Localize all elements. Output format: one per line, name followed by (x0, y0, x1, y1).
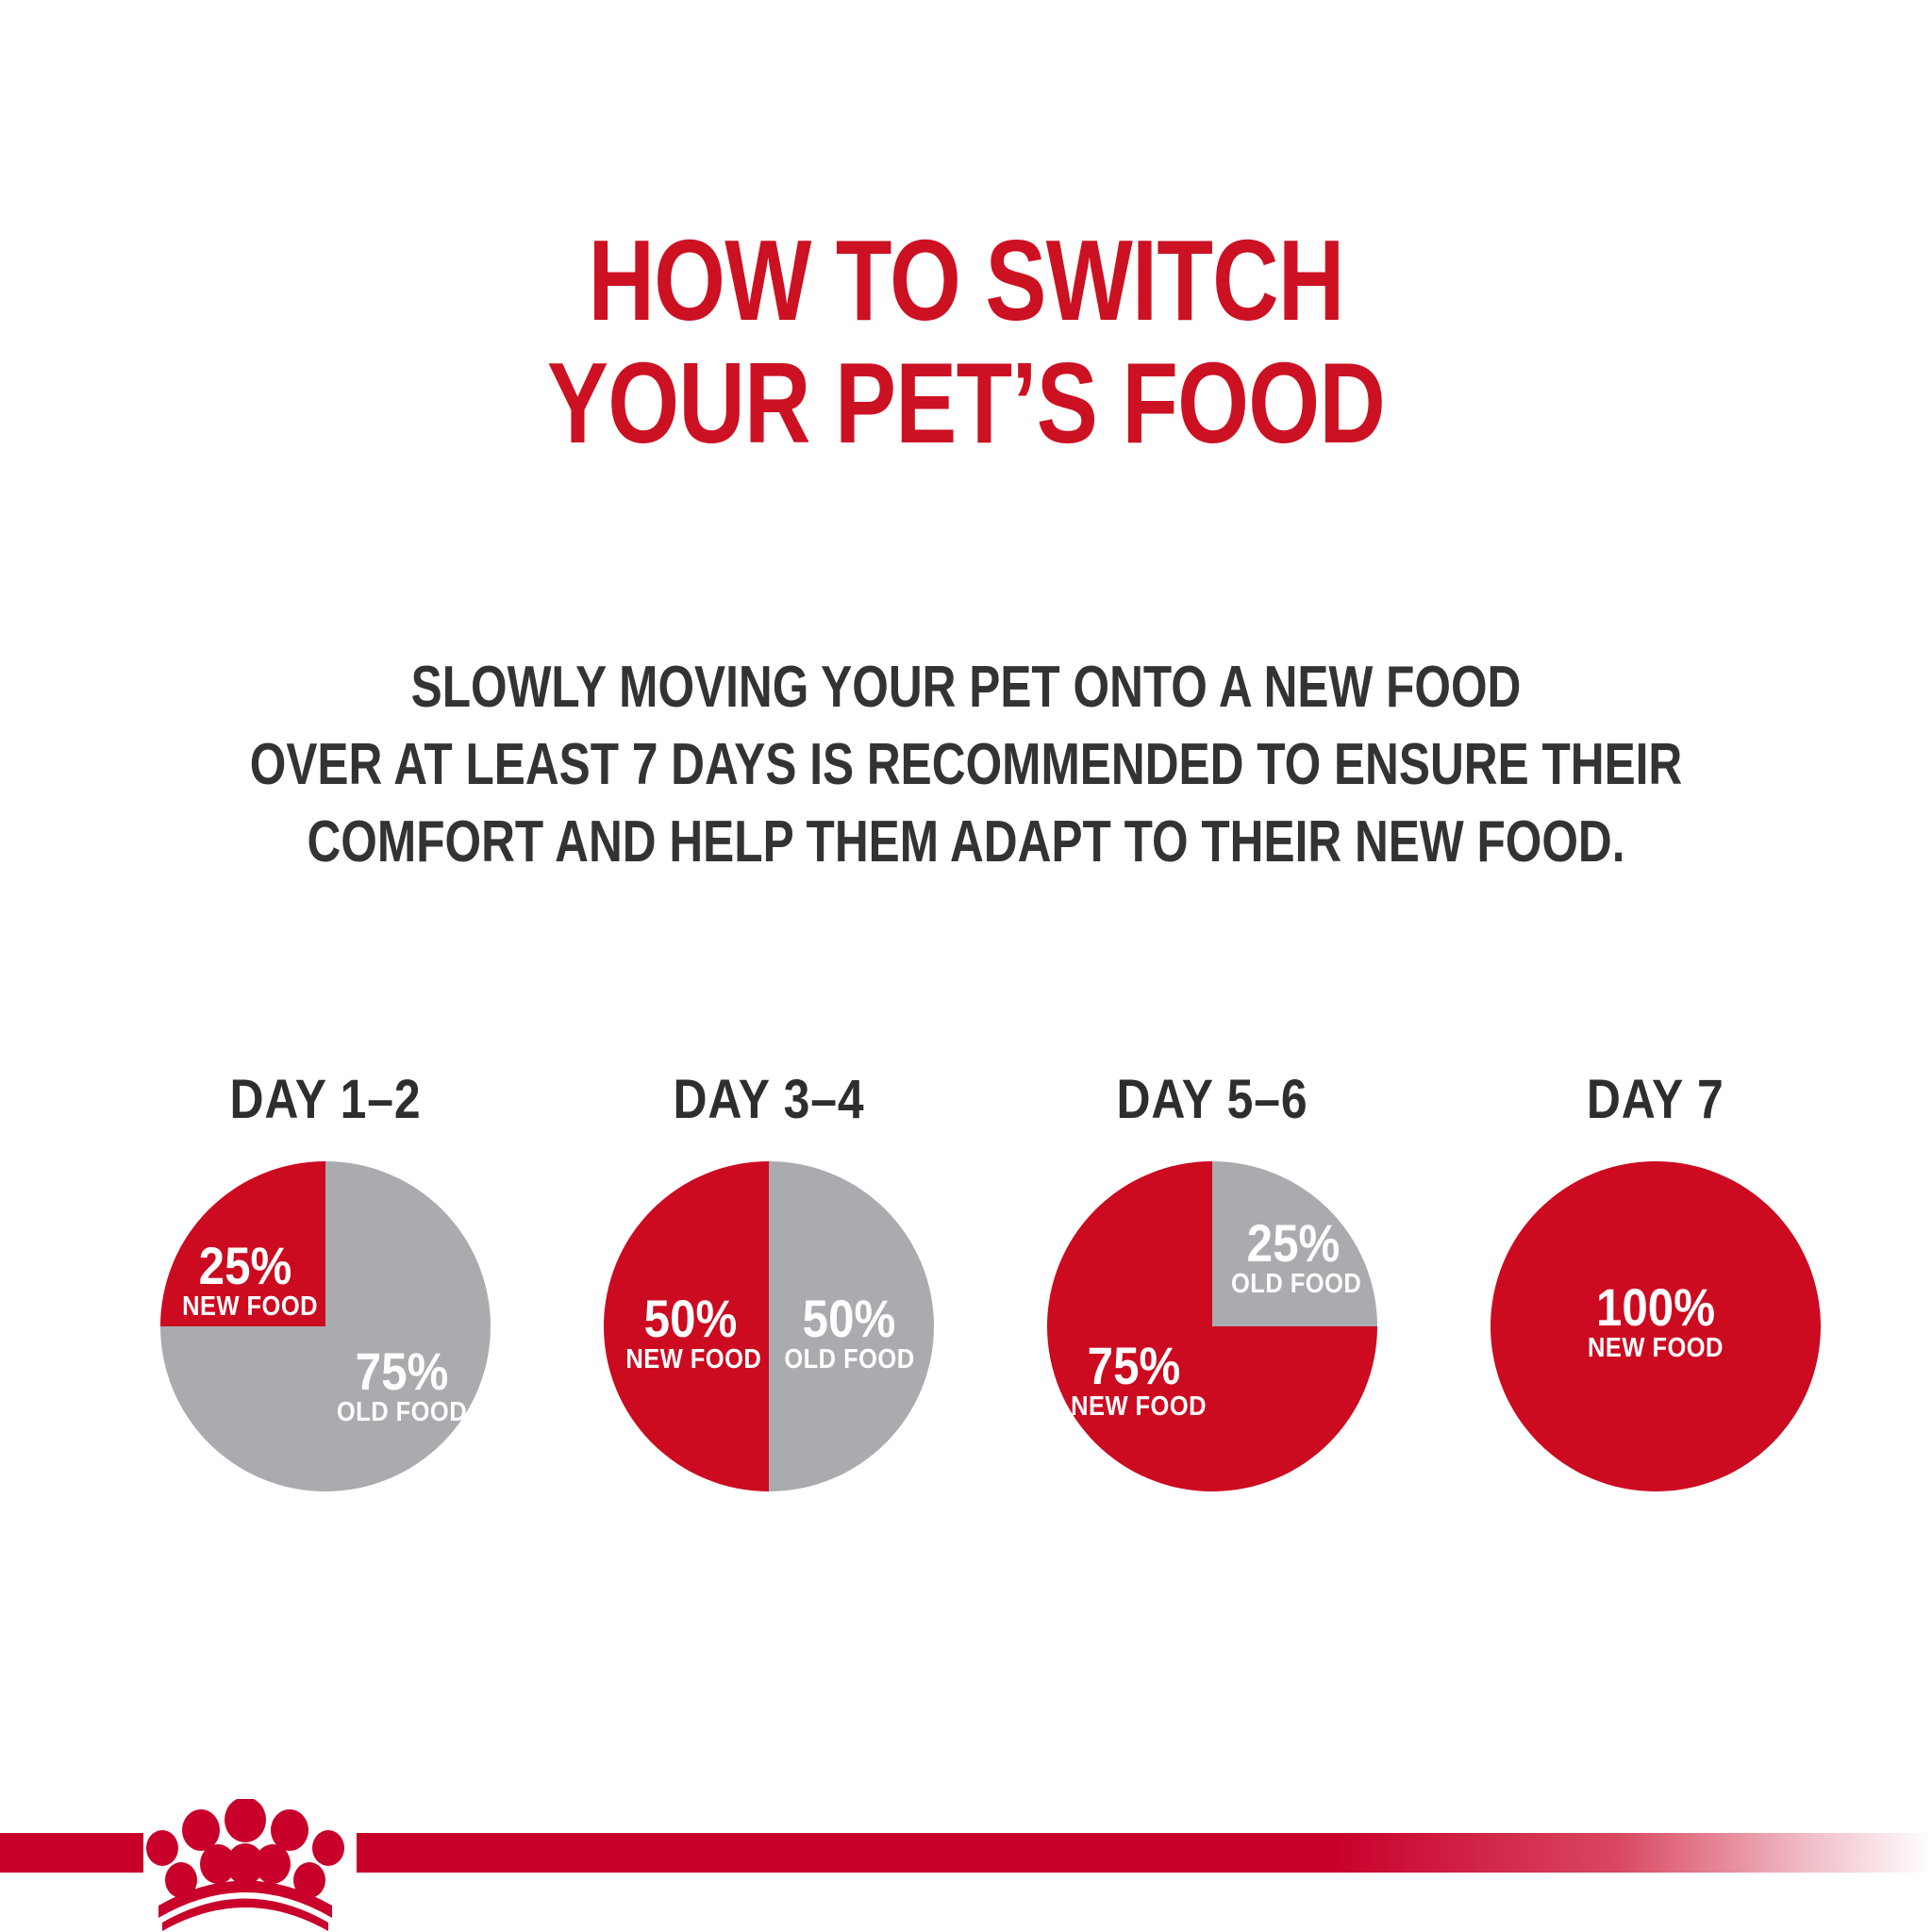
pie-group-day-3-4: DAY 3–4 50% NEW FOOD 50% OLD FOOD (580, 1071, 958, 1491)
pie-chart-row: DAY 1–2 25% NEW FOOD 75% OLD FOOD (137, 1071, 1844, 1599)
subtitle-line-1: SLOWLY MOVING YOUR PET ONTO A NEW FOOD (193, 649, 1739, 726)
pie-chart-day-1-2: 25% NEW FOOD 75% OLD FOOD (160, 1161, 491, 1491)
footer-brand-bar (0, 1807, 1932, 1932)
footer-bar-right-segment (357, 1833, 1932, 1873)
pie-slice-new-food (160, 1161, 325, 1326)
day-label-4: DAY 7 (1587, 1071, 1724, 1129)
pie-svg-day-3-4 (604, 1161, 934, 1491)
pie-chart-day-5-6: 25% OLD FOOD 75% NEW FOOD (1047, 1161, 1377, 1491)
day-label-2: DAY 3–4 (674, 1071, 865, 1129)
pie-group-day-7: DAY 7 100% NEW FOOD (1467, 1071, 1844, 1491)
title-line-1: HOW TO SWITCH (193, 219, 1739, 341)
royal-canin-crown-icon (142, 1799, 349, 1931)
pie-chart-day-7: 100% NEW FOOD (1491, 1161, 1821, 1491)
pie-slice-new-food (1491, 1161, 1821, 1491)
pie-slice-new-food (604, 1161, 769, 1491)
pie-svg-day-7 (1491, 1161, 1821, 1491)
pie-chart-day-3-4: 50% NEW FOOD 50% OLD FOOD (604, 1161, 934, 1491)
pie-svg-day-1-2 (160, 1161, 491, 1491)
footer-bar-left-segment (0, 1833, 143, 1873)
page-title: HOW TO SWITCH YOUR PET’S FOOD (0, 219, 1932, 464)
title-line-2: YOUR PET’S FOOD (193, 341, 1739, 464)
pie-svg-day-5-6 (1047, 1161, 1377, 1491)
subtitle-line-3: COMFORT AND HELP THEM ADAPT TO THEIR NEW… (193, 804, 1739, 881)
pie-slice-old-food (769, 1161, 934, 1491)
subtitle: SLOWLY MOVING YOUR PET ONTO A NEW FOOD O… (0, 649, 1932, 881)
subtitle-line-2: OVER AT LEAST 7 DAYS IS RECOMMENDED TO E… (193, 726, 1739, 804)
pie-group-day-5-6: DAY 5–6 25% OLD FOOD 75% NEW FOOD (1024, 1071, 1401, 1491)
infographic-root: HOW TO SWITCH YOUR PET’S FOOD SLOWLY MOV… (0, 0, 1932, 1932)
pie-group-day-1-2: DAY 1–2 25% NEW FOOD 75% OLD FOOD (137, 1071, 514, 1491)
pie-slice-old-food (1212, 1161, 1377, 1326)
day-label-3: DAY 5–6 (1117, 1071, 1308, 1129)
day-label-1: DAY 1–2 (230, 1071, 422, 1129)
